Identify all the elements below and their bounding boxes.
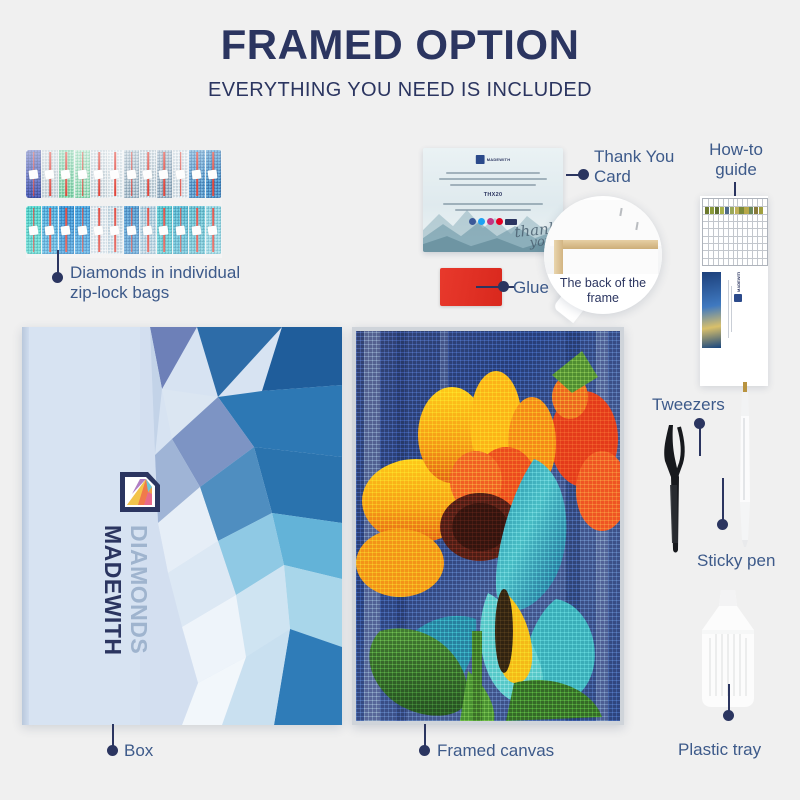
leader-dot-box (107, 745, 118, 756)
callout-label-diamonds: Diamonds in individual zip-lock bags (70, 263, 240, 302)
leader-dot-framed-canvas (419, 745, 430, 756)
page-title: FRAMED OPTION (0, 24, 800, 66)
leader-line-diamonds (57, 250, 59, 274)
frame-back-photo (544, 200, 662, 274)
callout-label-sticky-pen: Sticky pen (697, 551, 775, 571)
box-polygon-pattern (22, 327, 342, 725)
callout-label-thank-you: Thank You Card (594, 147, 674, 186)
leader-line-sticky-pen (722, 478, 724, 522)
leader-dot-plastic-tray (723, 710, 734, 721)
sticky-pen (737, 382, 753, 547)
bag-sheen (26, 150, 222, 258)
leader-dot-glue (498, 281, 509, 292)
canvas-artwork (356, 331, 620, 721)
color-chart-grid (702, 198, 768, 266)
card-text-line (443, 203, 543, 205)
card-text-line (446, 172, 540, 174)
color-swatch (744, 207, 748, 214)
box-brand-wordmark: MADEWITH (99, 525, 126, 655)
canvas-back-lower (563, 249, 658, 274)
infographic-canvas: FRAMED OPTION EVERYTHING YOU NEED IS INC… (0, 0, 800, 800)
color-swatch (739, 207, 743, 214)
color-swatch (749, 207, 753, 214)
callout-label-plastic-tray: Plastic tray (678, 740, 761, 760)
brand-name-primary: MADEWITH (100, 525, 126, 655)
twitter-icon (478, 218, 485, 225)
guide-cover-photo (702, 272, 721, 348)
facebook-icon (469, 218, 476, 225)
leader-dot-thank-you (578, 169, 589, 180)
frame-wood-horizontal (554, 240, 658, 249)
page-subtitle: EVERYTHING YOU NEED IS INCLUDED (0, 80, 800, 100)
color-swatch (730, 207, 734, 214)
diamond-gem-icon (118, 470, 162, 514)
card-text-line (439, 178, 547, 180)
guide-brand-panel: MADEWITH (702, 272, 766, 348)
card-text-line (455, 209, 531, 211)
guide-text-line (731, 286, 732, 332)
tweezers-icon (655, 425, 695, 555)
chart-gridline (703, 258, 767, 259)
guide-logo-text: MADEWITH (736, 272, 741, 292)
color-swatch (725, 207, 729, 214)
callout-label-framed-canvas: Framed canvas (437, 741, 554, 761)
leader-line-tweezers (699, 428, 701, 456)
bubble-circle: The back of the frame (544, 196, 662, 314)
frame-back-callout-bubble: The back of the frame (544, 196, 662, 314)
sticky-pen-icon (737, 382, 753, 547)
color-swatch (710, 207, 714, 214)
color-swatch (720, 207, 724, 214)
color-swatch (715, 207, 719, 214)
card-promo-code: THX20 (484, 192, 503, 198)
guide-brand-logo: MADEWITH (734, 272, 742, 302)
chart-gridline (703, 243, 767, 244)
card-social-icons (469, 218, 517, 225)
box-left-edge (22, 327, 29, 725)
callout-label-box: Box (124, 741, 153, 761)
bubble-label: The back of the frame (544, 276, 662, 306)
chart-gridline (703, 250, 767, 251)
diamond-gem-icon (734, 294, 742, 302)
brand-name-secondary: DIAMONDS (126, 525, 152, 654)
box-brand-wordmark-secondary: DIAMONDS (125, 525, 152, 654)
thank-you-card: MADEWITH THX20 thank you (423, 148, 563, 252)
guide-text-line (728, 280, 729, 338)
diamond-bags-group (26, 150, 222, 258)
callout-label-how-to-guide: How-to guide (700, 140, 772, 179)
chart-gridline (703, 221, 767, 222)
diamond-bead-texture (356, 331, 620, 721)
framed-canvas (352, 327, 624, 725)
leader-dot-diamonds (52, 272, 63, 283)
color-swatch (735, 207, 739, 214)
product-box (22, 327, 342, 725)
leader-dot-sticky-pen (717, 519, 728, 530)
frame-wood-vertical (554, 240, 563, 274)
instagram-icon (487, 218, 494, 225)
diamond-gem-icon (476, 155, 485, 164)
color-swatch (759, 207, 763, 214)
chart-gridline (703, 228, 767, 229)
card-text-line (450, 184, 536, 186)
box-brand-gem-icon (118, 470, 162, 519)
color-swatch (705, 207, 709, 214)
how-to-guide-sheet: MADEWITH (700, 196, 768, 386)
tweezers (655, 425, 695, 555)
callout-label-tweezers: Tweezers (652, 395, 725, 415)
card-brand-logo: MADEWITH (476, 155, 511, 164)
pinterest-icon (496, 218, 503, 225)
chart-gridline (703, 236, 767, 237)
card-logo-text: MADEWITH (487, 157, 511, 162)
color-swatch (754, 207, 758, 214)
